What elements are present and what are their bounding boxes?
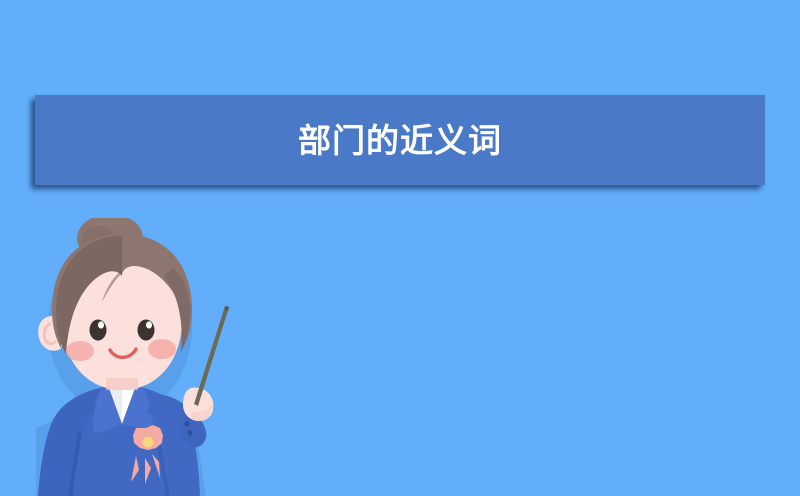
teacher-illustration-svg <box>18 218 248 496</box>
pointer-stick <box>194 306 229 406</box>
title-banner-body: 部门的近义词 <box>35 95 765 185</box>
title-banner: 部门的近义词 <box>35 95 765 185</box>
teacher-illustration <box>18 218 248 496</box>
slide-canvas: 部门的近义词 <box>0 0 800 496</box>
page-title: 部门的近义词 <box>298 124 502 157</box>
neck <box>106 378 138 390</box>
